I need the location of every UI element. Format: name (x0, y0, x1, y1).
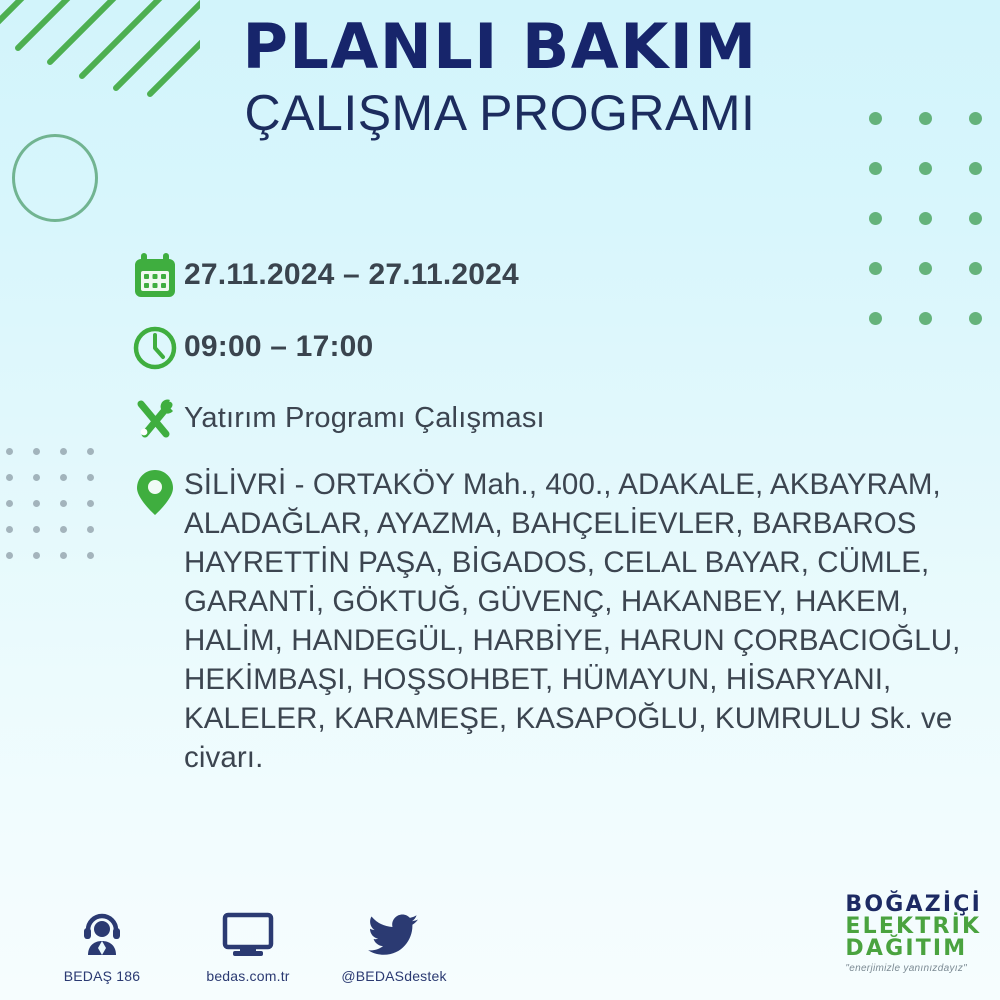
info-row-address: SİLİVRİ - ORTAKÖY Mah., 400., ADAKALE, A… (132, 464, 980, 778)
address-line: civarı. (184, 739, 960, 778)
bedas-logo: BOĞAZİÇİ ELEKTRİK DAĞITIM "enerjimizle y… (845, 894, 982, 975)
logo-tagline: "enerjimizle yanınızdayız" (845, 964, 982, 974)
clock-icon (132, 320, 184, 376)
monitor-icon (192, 906, 304, 958)
planli-bakim-poster: PLANLI BAKIM ÇALIŞMA PROGRAMI (0, 0, 1000, 1000)
call-center-agent-icon (46, 906, 158, 958)
address-line: HEKİMBAŞI, HOŞSOHBET, HÜMAYUN, HİSARYANI… (184, 661, 960, 700)
tools-icon (132, 392, 184, 448)
date-range-text: 27.11.2024 – 27.11.2024 (184, 248, 519, 294)
poster-header: PLANLI BAKIM ÇALIŞMA PROGRAMI (0, 14, 1000, 143)
address-line: ALADAĞLAR, AYAZMA, BAHÇELİEVLER, BARBARO… (184, 505, 960, 544)
footer-item-website[interactable]: bedas.com.tr (192, 906, 304, 984)
address-line: HAYRETTİN PAŞA, BİGADOS, CELAL BAYAR, CÜ… (184, 544, 960, 583)
footer-contact-list: BEDAŞ 186 bedas.com.tr @BEDASdestek (46, 906, 450, 984)
address-text: SİLİVRİ - ORTAKÖY Mah., 400., ADAKALE, A… (184, 464, 960, 778)
footer-label: BEDAŞ 186 (46, 968, 158, 984)
circle-outline-decoration (12, 134, 98, 222)
page-subtitle: ÇALIŞMA PROGRAMI (0, 85, 1000, 143)
location-pin-icon (132, 464, 184, 522)
logo-line-elektrik: ELEKTRİK (845, 916, 982, 938)
logo-line-dagitim: DAĞITIM (845, 938, 982, 960)
footer-item-call-center[interactable]: BEDAŞ 186 (46, 906, 158, 984)
logo-line-bogazici: BOĞAZİÇİ (845, 894, 982, 916)
address-line: HALİM, HANDEGÜL, HARBİYE, HARUN ÇORBACIO… (184, 622, 960, 661)
page-title: PLANLI BAKIM (0, 14, 1000, 79)
calendar-icon (132, 248, 184, 304)
info-list: 27.11.2024 – 27.11.2024 09:00 – 17:00 (132, 248, 980, 778)
time-range-text: 09:00 – 17:00 (184, 320, 373, 366)
address-line: GARANTİ, GÖKTUĞ, GÜVENÇ, HAKANBEY, HAKEM… (184, 583, 960, 622)
address-line: SİLİVRİ - ORTAKÖY Mah., 400., ADAKALE, A… (184, 466, 960, 505)
address-line: KALELER, KARAMEŞE, KASAPOĞLU, KUMRULU Sk… (184, 700, 960, 739)
footer-label: bedas.com.tr (192, 968, 304, 984)
footer-item-twitter[interactable]: @BEDASdestek (338, 906, 450, 984)
dot-grid-left-decoration (6, 448, 94, 578)
footer-label: @BEDASdestek (338, 968, 450, 984)
work-type-text: Yatırım Programı Çalışması (184, 392, 545, 436)
info-row-date: 27.11.2024 – 27.11.2024 (132, 248, 980, 304)
info-row-time: 09:00 – 17:00 (132, 320, 980, 376)
twitter-bird-icon (338, 906, 450, 958)
info-row-work-type: Yatırım Programı Çalışması (132, 392, 980, 448)
